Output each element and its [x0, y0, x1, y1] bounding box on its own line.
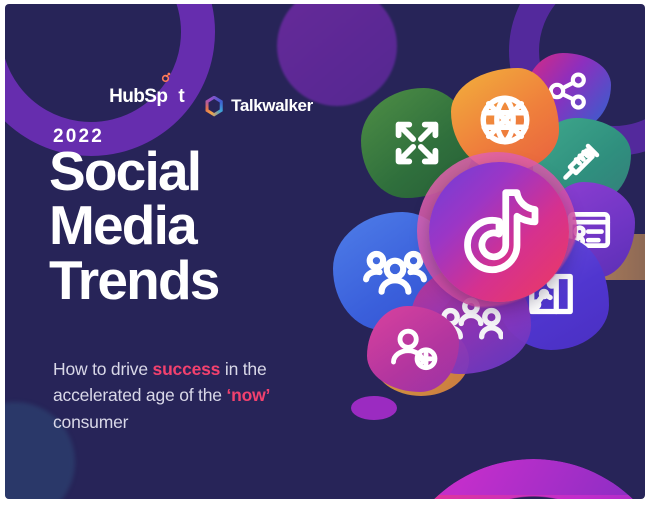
cover-page: HubSpot Talkwalker 2022 Social — [0, 0, 650, 505]
globe-network-icon — [476, 91, 534, 149]
title-line-3: Trends — [49, 253, 219, 307]
talkwalker-hexagon-icon — [204, 96, 224, 117]
blob-add-user — [367, 306, 459, 392]
ebook-cover: HubSpot Talkwalker 2022 Social — [5, 4, 645, 499]
talkwalker-logo: Talkwalker — [204, 96, 313, 117]
decorative-arc-bottom-right — [390, 459, 645, 499]
social-media-icon-cluster — [325, 56, 645, 436]
title-line-2: Media — [49, 198, 219, 252]
syringe-vaccine-icon — [558, 137, 606, 185]
page-title: Social Media Trends — [49, 144, 219, 307]
subtitle-part-1: How to drive — [53, 359, 153, 379]
cover-text-column: HubSpot Talkwalker 2022 Social — [5, 4, 335, 499]
expand-arrows-icon — [386, 112, 448, 174]
subtitle-highlight-now: ‘now’ — [226, 385, 270, 405]
title-line-1: Social — [49, 144, 219, 198]
hubspot-sprocket-icon — [160, 72, 171, 83]
talkwalker-wordmark: Talkwalker — [231, 96, 313, 116]
subtitle-highlight-success: success — [153, 359, 221, 379]
subtitle-part-3: consumer — [53, 412, 128, 432]
tiktok-music-note-icon — [457, 187, 541, 277]
add-user-icon — [387, 323, 439, 375]
cover-subtitle: How to drive success in the accelerated … — [53, 356, 289, 435]
blob-tiktok — [429, 162, 569, 302]
